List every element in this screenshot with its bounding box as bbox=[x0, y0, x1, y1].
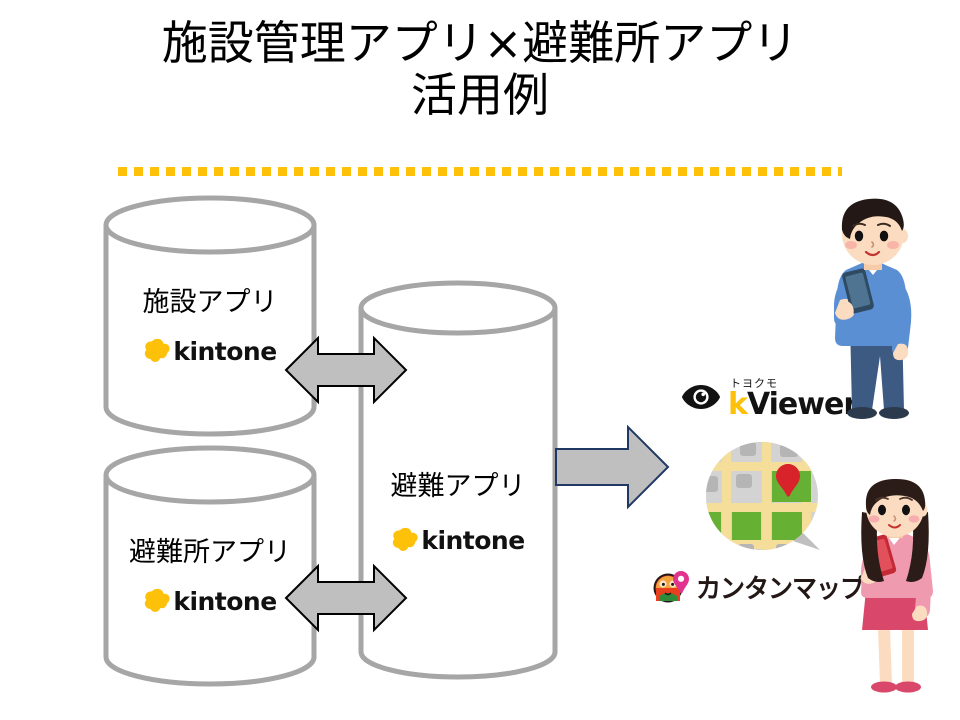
double-headed-arrow-icon bbox=[284, 332, 408, 408]
page-title: 施設管理アプリ×避難所アプリ 活用例 bbox=[0, 18, 960, 121]
slide-canvas: 施設管理アプリ×避難所アプリ 活用例 施設アプリ kintone bbox=[0, 0, 960, 720]
title-line-2: 活用例 bbox=[0, 70, 960, 122]
kantanmap-logo: カンタンマップ bbox=[652, 569, 864, 608]
kintone-cloud-icon bbox=[143, 338, 171, 364]
arrow-facility-to-evacuation bbox=[284, 332, 408, 408]
map-pin-badge-icon bbox=[652, 569, 692, 608]
kintone-logo-evacuation: kintone bbox=[356, 527, 560, 553]
arrow-evacuation-to-viewers bbox=[554, 424, 670, 510]
woman-with-smartphone-illustration bbox=[838, 478, 956, 704]
double-headed-arrow-icon bbox=[284, 560, 408, 636]
right-arrow-icon bbox=[554, 424, 670, 510]
dotted-divider bbox=[118, 167, 842, 176]
map-speech-bubble-illustration bbox=[702, 440, 822, 558]
eye-icon bbox=[681, 383, 721, 416]
kintone-wordmark: kintone bbox=[173, 339, 276, 364]
kintone-cloud-icon bbox=[143, 588, 171, 614]
title-line-1: 施設管理アプリ×避難所アプリ bbox=[0, 18, 960, 70]
cylinder-label-facility: 施設アプリ bbox=[100, 280, 320, 319]
kintone-wordmark: kintone bbox=[173, 589, 276, 614]
kintone-cloud-icon bbox=[391, 527, 419, 553]
cylinder-label-evacuation: 避難アプリ bbox=[356, 464, 560, 503]
man-with-smartphone-illustration bbox=[806, 196, 938, 436]
kviewer-name-prefix: k bbox=[728, 387, 747, 422]
arrow-shelter-to-evacuation bbox=[284, 560, 408, 636]
kintone-wordmark: kintone bbox=[421, 528, 524, 553]
